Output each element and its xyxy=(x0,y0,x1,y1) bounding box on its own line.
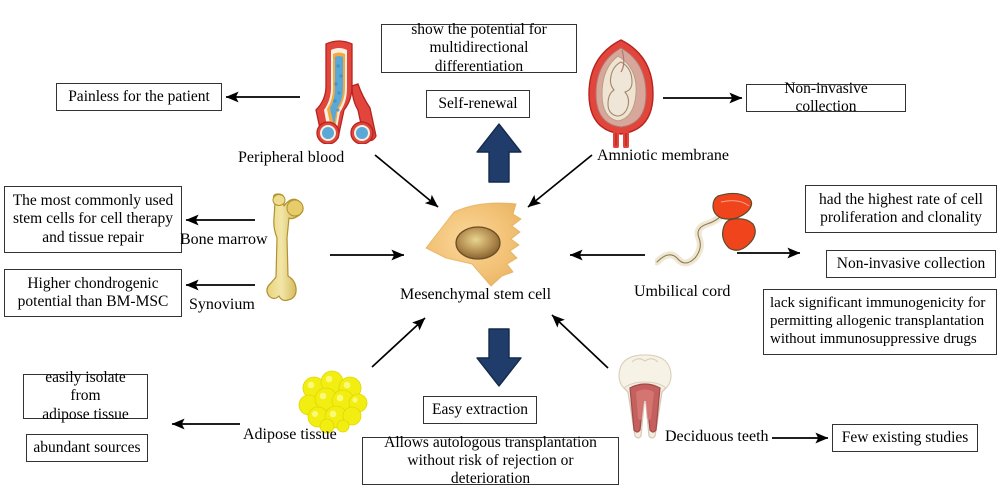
box-chondrogenic-text: Higher chondrogenicpotential than BM-MSC xyxy=(18,275,169,312)
box-noninvasive-right-text: Non-invasive collection xyxy=(837,255,986,273)
box-easily-isolate-text: easily isolate fromadipose tissue xyxy=(30,369,141,424)
box-immunogenicity-text: lack significant immunogenicity forpermi… xyxy=(770,295,985,348)
umbilical-cord-icon xyxy=(655,190,775,276)
box-few-studies: Few existing studies xyxy=(832,424,978,452)
diagram-canvas: show the potential formultidirectional d… xyxy=(0,0,1000,491)
box-autologous: Allows autologous transplantationwithout… xyxy=(362,437,619,485)
box-easy-extraction: Easy extraction xyxy=(423,396,537,424)
box-painless-text: Painless for the patient xyxy=(68,88,210,106)
blue-arrow-down-icon xyxy=(477,329,521,386)
box-noninvasive-top-text: Non-invasive collection xyxy=(753,80,899,117)
tooth-icon xyxy=(614,352,676,440)
label-peripheral-blood: Peripheral blood xyxy=(238,149,344,167)
box-self-renewal-text: Self-renewal xyxy=(438,95,517,113)
femur-bone-icon xyxy=(262,192,306,304)
label-deciduous-teeth: Deciduous teeth xyxy=(665,428,769,446)
label-adipose-tissue: Adipose tissue xyxy=(243,426,337,444)
box-potential-text: show the potential formultidirectional d… xyxy=(388,21,570,76)
box-noninvasive-top: Non-invasive collection xyxy=(746,84,906,112)
box-noninvasive-right: Non-invasive collection xyxy=(826,250,996,278)
box-highest-rate-text: had the highest rate of cellproliferatio… xyxy=(819,191,983,228)
box-immunogenicity: lack significant immunogenicity forpermi… xyxy=(763,289,997,355)
label-amniotic-membrane: Amniotic membrane xyxy=(597,147,729,165)
box-autologous-text: Allows autologous transplantationwithout… xyxy=(369,434,612,489)
box-easy-extraction-text: Easy extraction xyxy=(432,401,528,419)
box-chondrogenic: Higher chondrogenicpotential than BM-MSC xyxy=(4,269,182,317)
box-most-common-text: The most commonly usedstem cells for cel… xyxy=(13,192,174,247)
label-synovium: Synovium xyxy=(189,296,255,314)
box-potential: show the potential formultidirectional d… xyxy=(381,24,577,73)
box-self-renewal: Self-renewal xyxy=(426,90,530,118)
blood-vessel-icon xyxy=(300,38,378,144)
amniotic-sac-icon xyxy=(578,34,664,148)
box-most-common: The most commonly usedstem cells for cel… xyxy=(4,186,182,253)
blue-arrow-up-icon xyxy=(477,124,521,182)
box-easily-isolate: easily isolate fromadipose tissue xyxy=(23,374,148,419)
box-few-studies-text: Few existing studies xyxy=(842,429,969,447)
label-bone-marrow: Bone marrow xyxy=(180,231,268,249)
box-highest-rate: had the highest rate of cellproliferatio… xyxy=(805,185,997,233)
label-mesenchymal-stem-cell: Mesenchymal stem cell xyxy=(400,286,551,304)
msc-cell-icon xyxy=(420,198,550,290)
box-abundant-text: abundant sources xyxy=(33,439,140,457)
box-painless: Painless for the patient xyxy=(56,83,222,111)
label-umbilical-cord: Umbilical cord xyxy=(634,283,730,301)
box-abundant: abundant sources xyxy=(26,434,148,462)
fat-cells-icon xyxy=(296,368,372,434)
